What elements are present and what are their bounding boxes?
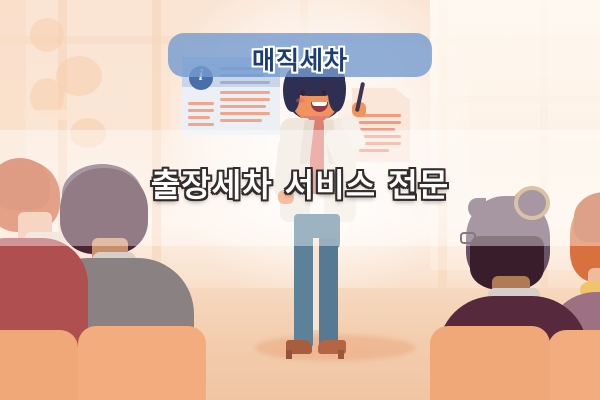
banner-image: 출장세차 서비스 전문 매직세차: [0, 0, 600, 400]
presenter-teeth: [312, 102, 327, 106]
presenter-eyebrow: [299, 85, 308, 87]
presenter-leg-gap: [313, 238, 319, 330]
presenter-cheek: [296, 98, 305, 103]
presenter-hair-side: [283, 72, 300, 112]
chair: [78, 326, 206, 400]
presenter-leg-left: [294, 238, 313, 348]
presenter-eye: [322, 90, 326, 96]
presenter-heel-left: [286, 350, 292, 359]
presenter-leg-right: [319, 238, 338, 348]
presenter-eye: [301, 90, 305, 96]
brand-badge: 매직세차: [168, 33, 432, 77]
brand-badge-label: 매직세차: [168, 41, 432, 77]
shelf-decor: [30, 18, 64, 52]
chair: [0, 330, 78, 400]
presenter-eyebrow: [320, 85, 329, 87]
chair: [548, 330, 600, 400]
chair: [430, 326, 550, 400]
headline-text: 출장세차 서비스 전문: [0, 160, 600, 206]
presenter-heel-right: [338, 350, 344, 359]
